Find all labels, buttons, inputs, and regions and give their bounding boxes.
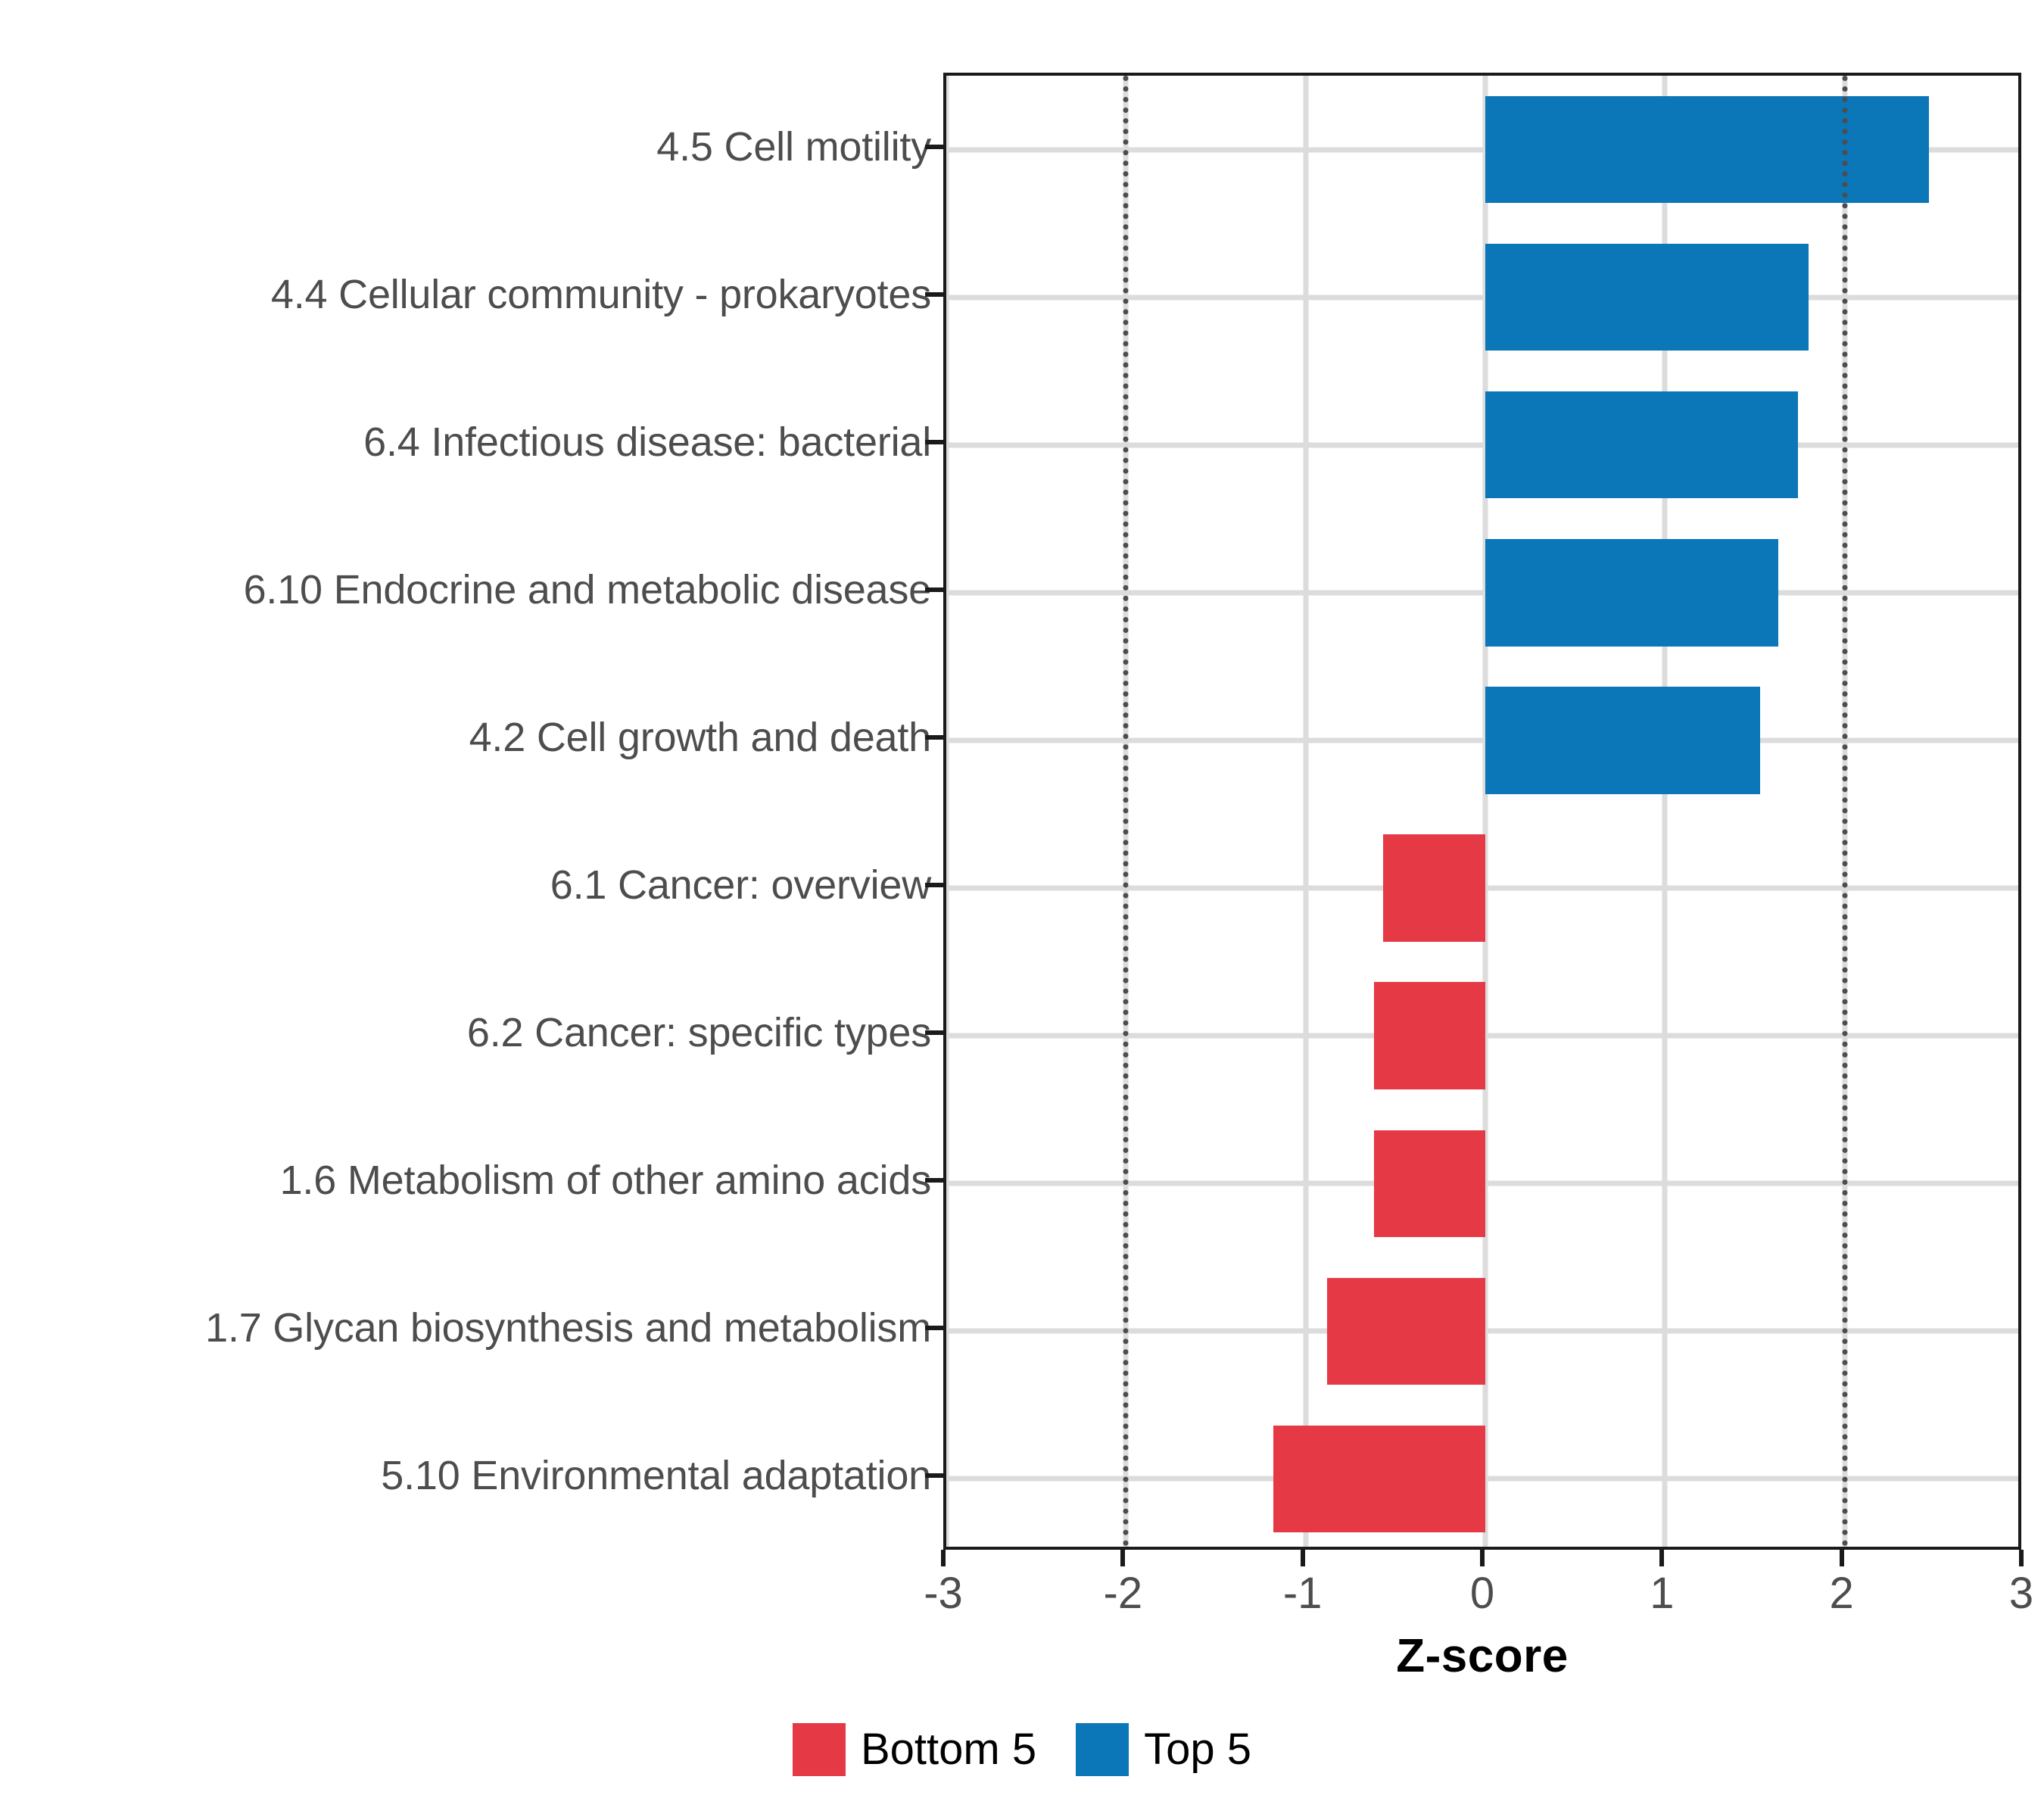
y-axis-tick [925, 145, 943, 149]
y-gridline [946, 590, 2018, 595]
plot-panel [943, 73, 2021, 1550]
y-axis-tick [925, 1178, 943, 1183]
x-axis-tick-label: -1 [1283, 1572, 1323, 1616]
y-axis-label: 1.7 Glycan biosynthesis and metabolism [0, 1307, 931, 1348]
x-axis-tick [2019, 1550, 2024, 1566]
x-axis-tick-label: 3 [2009, 1572, 2033, 1616]
y-axis-label: 5.10 Environmental adaptation [0, 1455, 931, 1496]
y-axis-label: 4.2 Cell growth and death [0, 717, 931, 758]
y-axis-label: 4.5 Cell motility [0, 126, 931, 167]
bar[interactable] [1374, 1130, 1485, 1237]
y-axis-label: 6.2 Cancer: specific types [0, 1012, 931, 1053]
bar[interactable] [1485, 244, 1809, 351]
y-axis-label: 6.4 Infectious disease: bacterial [0, 422, 931, 463]
x-axis-tick-label: -3 [924, 1572, 963, 1616]
bar[interactable] [1273, 1426, 1485, 1532]
reference-line [1842, 76, 1847, 1547]
legend-label: Bottom 5 [861, 1728, 1036, 1772]
y-axis-label: 6.1 Cancer: overview [0, 865, 931, 905]
y-axis-label: 1.6 Metabolism of other amino acids [0, 1160, 931, 1201]
x-axis-title: Z-score [943, 1629, 2021, 1683]
bar[interactable] [1327, 1278, 1485, 1385]
chart-legend: Bottom 5Top 5 [0, 1723, 2044, 1776]
y-axis-category-labels: 4.5 Cell motility4.4 Cellular community … [0, 73, 931, 1550]
legend-item[interactable]: Bottom 5 [793, 1723, 1036, 1776]
bar[interactable] [1485, 391, 1798, 498]
y-gridline [946, 737, 2018, 743]
x-axis-tick [1659, 1550, 1664, 1566]
y-axis-tick [925, 292, 943, 297]
y-gridline [946, 295, 2018, 300]
plot-area [946, 76, 2018, 1547]
chart-figure: 4.5 Cell motility4.4 Cellular community … [0, 0, 2044, 1817]
y-axis-tick [925, 440, 943, 444]
x-axis-tick-label: 1 [1650, 1572, 1674, 1616]
bar[interactable] [1485, 687, 1760, 793]
x-axis-tick [1840, 1550, 1844, 1566]
x-axis-tick [1480, 1550, 1485, 1566]
x-axis-tick-label: 2 [1830, 1572, 1854, 1616]
x-axis-tick-label: 0 [1470, 1572, 1494, 1616]
bar[interactable] [1485, 96, 1929, 203]
y-axis-tick [925, 883, 943, 887]
x-axis-tick-label: -2 [1104, 1572, 1143, 1616]
legend-item[interactable]: Top 5 [1076, 1723, 1251, 1776]
legend-swatch [1076, 1723, 1129, 1776]
reference-line [1123, 76, 1129, 1547]
x-axis-tick [1120, 1550, 1125, 1566]
y-axis-tick [925, 1326, 943, 1330]
bar[interactable] [1374, 982, 1485, 1089]
y-axis-label: 4.4 Cellular community - prokaryotes [0, 274, 931, 315]
bar[interactable] [1383, 834, 1485, 941]
legend-label: Top 5 [1144, 1728, 1251, 1772]
legend-swatch [793, 1723, 846, 1776]
x-axis-tick [941, 1550, 946, 1566]
y-gridline [946, 442, 2018, 447]
x-axis-tick [1301, 1550, 1305, 1566]
y-axis-tick [925, 587, 943, 592]
y-axis-label: 6.10 Endocrine and metabolic disease [0, 569, 931, 610]
y-axis-tick [925, 1030, 943, 1035]
y-axis-tick [925, 1473, 943, 1478]
y-axis-tick [925, 735, 943, 740]
bar[interactable] [1485, 539, 1778, 646]
